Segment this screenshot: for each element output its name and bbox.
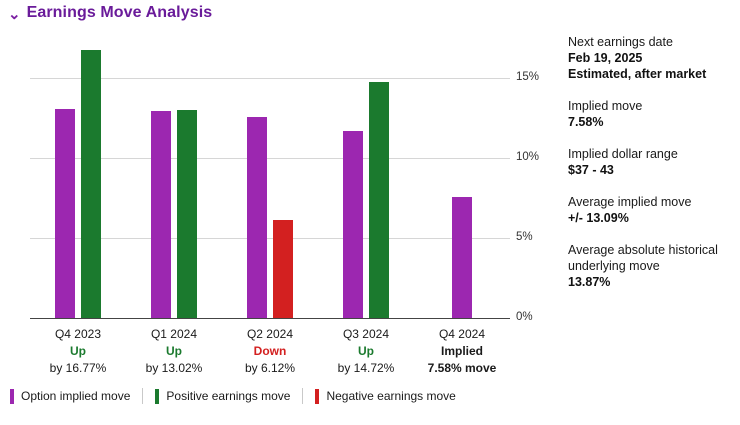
- category-period: Q2 2024: [222, 326, 318, 343]
- chart-bar-group: [222, 46, 318, 318]
- summary-item-label: Implied dollar range: [568, 146, 733, 162]
- page-title: Earnings Move Analysis: [27, 4, 213, 22]
- summary-item-value: Feb 19, 2025: [568, 50, 733, 66]
- legend-item[interactable]: Negative earnings move: [315, 388, 455, 404]
- chart-y-tick-label: 15%: [516, 71, 539, 83]
- category-direction: Up: [318, 343, 414, 360]
- summary-item: Average absolute historical underlying m…: [568, 242, 733, 290]
- chart-y-tick-label: 10%: [516, 151, 539, 163]
- summary-item: Implied dollar range$37 - 43: [568, 146, 733, 178]
- summary-item-subvalue: Estimated, after market: [568, 66, 733, 82]
- summary-item-label: Average implied move: [568, 194, 733, 210]
- chart-category-label: Q4 2023Upby 16.77%: [30, 326, 126, 377]
- chart-bars: [30, 46, 126, 318]
- chart-category-label: Q2 2024Downby 6.12%: [222, 326, 318, 377]
- summary-item-label: Next earnings date: [568, 34, 733, 50]
- category-direction: Down: [222, 343, 318, 360]
- chart-bar[interactable]: [452, 197, 472, 318]
- category-period: Q4 2024: [414, 326, 510, 343]
- legend-swatch-icon: [155, 389, 159, 404]
- category-detail: by 14.72%: [318, 360, 414, 377]
- chart-bar-group: [318, 46, 414, 318]
- category-period: Q1 2024: [126, 326, 222, 343]
- summary-item: Implied move7.58%: [568, 98, 733, 130]
- legend-label: Negative earnings move: [326, 389, 455, 403]
- chart-bar-group: [126, 46, 222, 318]
- summary-item-label: Average absolute historical underlying m…: [568, 242, 733, 274]
- chart-y-tick-label: 0%: [516, 311, 533, 323]
- category-period: Q3 2024: [318, 326, 414, 343]
- chart-bar[interactable]: [177, 110, 197, 318]
- legend-item[interactable]: Positive earnings move: [155, 388, 303, 404]
- legend-label: Option implied move: [21, 389, 130, 403]
- chart-plot-area: 0%5%10%15%: [30, 46, 510, 318]
- category-direction: Up: [30, 343, 126, 360]
- chart-bar[interactable]: [55, 109, 75, 318]
- summary-item-value: 7.58%: [568, 114, 733, 130]
- category-direction: Up: [126, 343, 222, 360]
- chart-bar[interactable]: [81, 50, 101, 318]
- category-detail: 7.58% move: [414, 360, 510, 377]
- chart-category-label: Q1 2024Upby 13.02%: [126, 326, 222, 377]
- summary-item-label: Implied move: [568, 98, 733, 114]
- chart-y-tick-label: 5%: [516, 231, 533, 243]
- chart-bars: [222, 46, 318, 318]
- category-detail: by 6.12%: [222, 360, 318, 377]
- chart-legend: Option implied movePositive earnings mov…: [10, 388, 456, 404]
- chart-bars: [414, 46, 510, 318]
- summary-item: Average implied move+/- 13.09%: [568, 194, 733, 226]
- summary-item-value: 13.87%: [568, 274, 733, 290]
- summary-item: Next earnings dateFeb 19, 2025Estimated,…: [568, 34, 733, 82]
- earnings-bar-chart: 0%5%10%15% Q4 2023Upby 16.77%Q1 2024Upby…: [12, 34, 540, 374]
- legend-label: Positive earnings move: [166, 389, 290, 403]
- legend-swatch-icon: [10, 389, 14, 404]
- category-direction: Implied: [414, 343, 510, 360]
- chart-bar-group: [414, 46, 510, 318]
- category-detail: by 13.02%: [126, 360, 222, 377]
- chart-bar-groups: [30, 46, 510, 318]
- chart-bar-group: [30, 46, 126, 318]
- chart-category-label: Q4 2024Implied7.58% move: [414, 326, 510, 377]
- legend-item[interactable]: Option implied move: [10, 388, 143, 404]
- chart-bar[interactable]: [343, 131, 363, 318]
- category-detail: by 16.77%: [30, 360, 126, 377]
- chart-bars: [318, 46, 414, 318]
- chart-category-labels: Q4 2023Upby 16.77%Q1 2024Upby 13.02%Q2 2…: [30, 326, 510, 377]
- chart-axis-line: [30, 318, 510, 319]
- chart-bar[interactable]: [369, 82, 389, 318]
- earnings-summary-list: Next earnings dateFeb 19, 2025Estimated,…: [568, 34, 733, 306]
- chart-bars: [126, 46, 222, 318]
- chart-category-label: Q3 2024Upby 14.72%: [318, 326, 414, 377]
- chart-bar[interactable]: [273, 220, 293, 318]
- summary-item-value: $37 - 43: [568, 162, 733, 178]
- chevron-down-icon[interactable]: ⌄: [8, 7, 21, 22]
- panel-header[interactable]: ⌄ Earnings Move Analysis: [8, 4, 212, 22]
- chart-bar[interactable]: [151, 111, 171, 318]
- category-period: Q4 2023: [30, 326, 126, 343]
- summary-item-value: +/- 13.09%: [568, 210, 733, 226]
- chart-bar[interactable]: [247, 117, 267, 318]
- legend-swatch-icon: [315, 389, 319, 404]
- earnings-move-analysis-panel: ⌄ Earnings Move Analysis 0%5%10%15% Q4 2…: [0, 0, 740, 425]
